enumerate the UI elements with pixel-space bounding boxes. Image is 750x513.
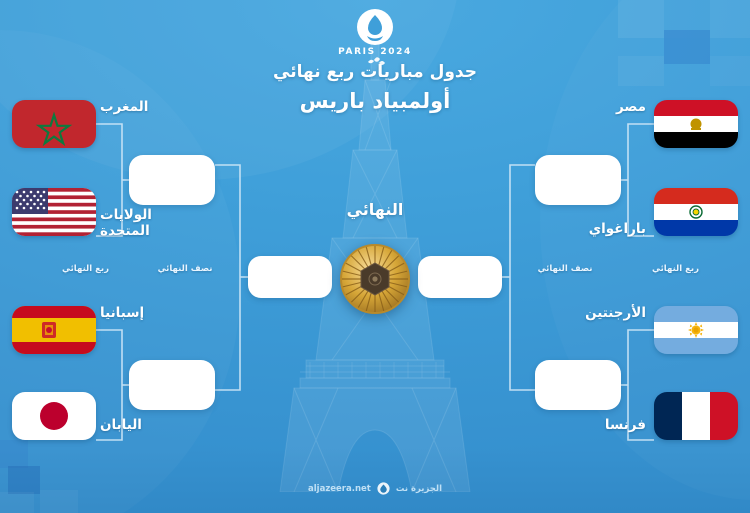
semi-final-slot-left-1[interactable]: [129, 155, 215, 205]
team-name-paraguay: باراغواي: [556, 222, 646, 238]
footer-branding: الجزيرة نت aljazeera.net: [0, 482, 750, 495]
round-label-semi-final-left: نصف النهائي: [130, 264, 240, 274]
semi-final-slot-right-2[interactable]: [535, 360, 621, 410]
bottom-band: [0, 449, 750, 513]
flag-france[interactable]: [654, 392, 738, 440]
semi-final-slot-left-2[interactable]: [129, 360, 215, 410]
flag-spain[interactable]: [12, 306, 96, 354]
bracket-infographic: PARIS 2024 جدول مباريات ربع نهائي أولمبي…: [0, 0, 750, 513]
team-name-spain: إسبانيا: [100, 306, 186, 322]
final-slot-left[interactable]: [248, 256, 332, 298]
flag-argentina[interactable]: [654, 306, 738, 354]
team-name-egypt: مصر: [586, 100, 646, 116]
team-name-japan: اليابان: [100, 418, 186, 434]
flag-morocco[interactable]: [12, 100, 96, 148]
flag-japan[interactable]: [12, 392, 96, 440]
flag-egypt[interactable]: [654, 100, 738, 148]
round-label-semi-final-right: نصف النهائي: [510, 264, 620, 274]
semi-final-slot-right-1[interactable]: [535, 155, 621, 205]
final-slot-right[interactable]: [418, 256, 502, 298]
page-subtitle: جدول مباريات ربع نهائي: [0, 62, 750, 82]
aljazeera-teardrop-logo: [377, 482, 390, 495]
footer-brand-arabic: الجزيرة نت: [396, 484, 442, 494]
team-name-morocco: المغرب: [100, 100, 180, 116]
team-name-argentina: الأرجنتين: [566, 306, 646, 322]
final-label: النهائي: [0, 200, 750, 219]
team-name-france: فرنسا: [586, 418, 646, 434]
footer-brand-latin: aljazeera.net: [308, 484, 371, 494]
round-label-quarter-final-right: ربع النهائي: [618, 264, 733, 274]
svg-text:PARIS 2024: PARIS 2024: [338, 47, 412, 57]
round-label-quarter-final-left: ربع النهائي: [28, 264, 143, 274]
gold-medal: [339, 243, 411, 315]
